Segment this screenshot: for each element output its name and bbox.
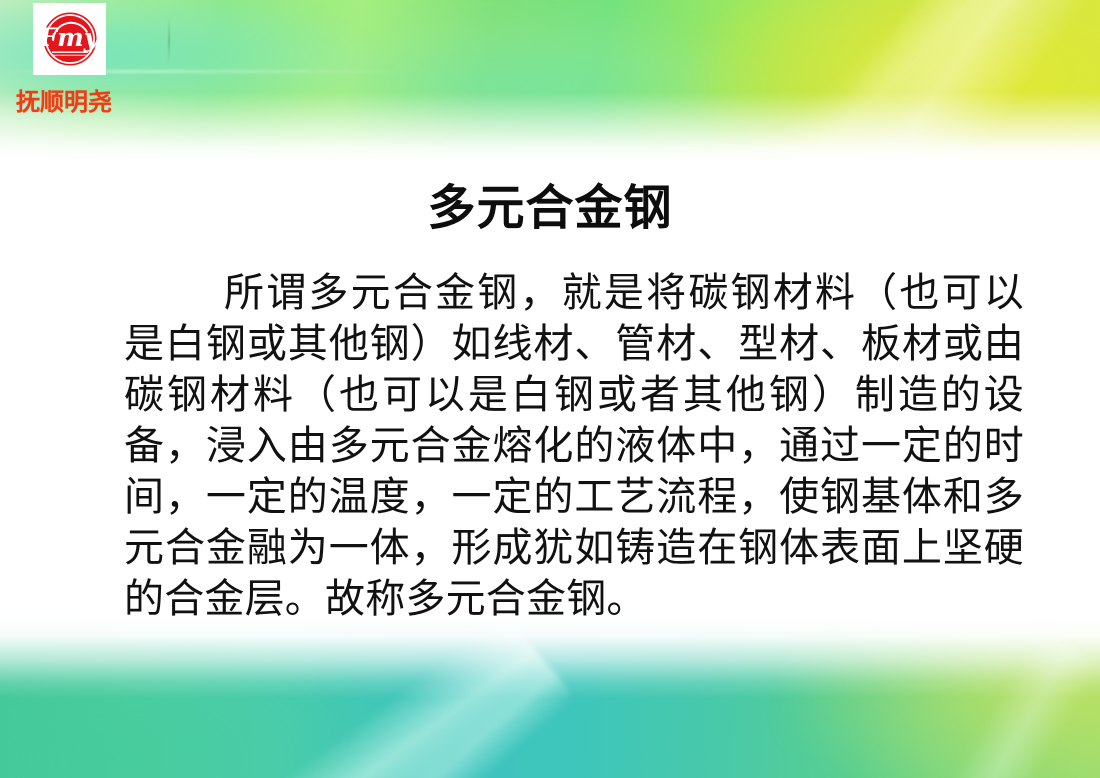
slide-title: 多元合金钢 bbox=[0, 168, 1100, 238]
company-logo: Fmy bbox=[33, 3, 106, 75]
top-banner-vertical-streak bbox=[168, 18, 170, 64]
presentation-slide: Fmy 抚顺明尧 多元合金钢 所谓多元合金钢，就是将碳钢材料（也可以是白钢或其他… bbox=[0, 0, 1100, 778]
bottom-decorative-banner bbox=[0, 618, 1100, 778]
top-banner-white-fade bbox=[0, 92, 1100, 162]
company-name-label: 抚顺明尧 bbox=[16, 82, 112, 117]
bottom-banner-white-fade bbox=[0, 618, 1100, 698]
top-decorative-banner bbox=[0, 0, 1100, 162]
fmy-circle-logo-icon: Fmy bbox=[40, 9, 100, 69]
slide-body-text: 所谓多元合金钢，就是将碳钢材料（也可以是白钢或其他钢）如线材、管材、型材、板材或… bbox=[124, 268, 1024, 625]
svg-text:Fmy: Fmy bbox=[40, 22, 100, 52]
